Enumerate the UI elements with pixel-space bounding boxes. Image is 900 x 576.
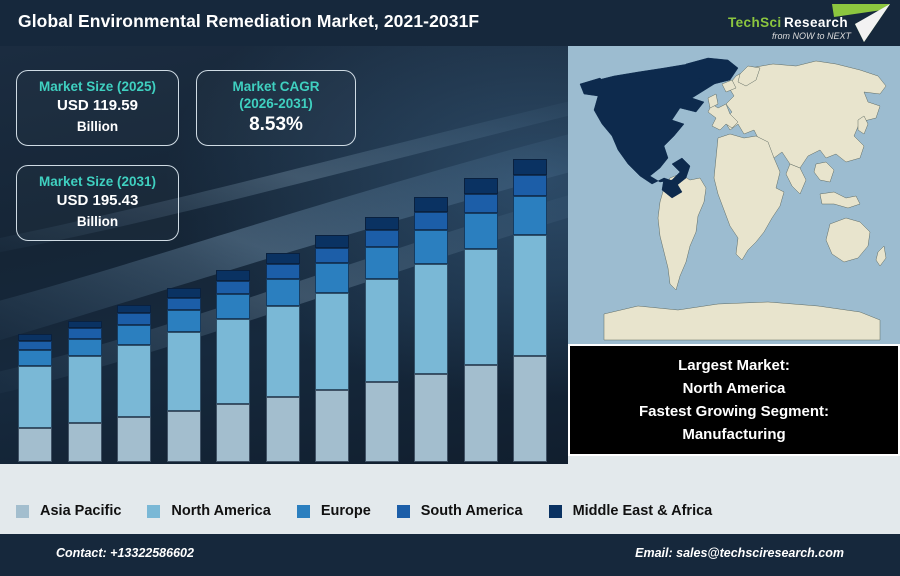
segment-middle-east-africa [216,270,250,281]
segment-europe [216,294,250,319]
segment-north-america [167,332,201,410]
footer-contact: Contact: +13322586602 [56,546,194,560]
largest-market-value: North America [683,377,786,400]
bar-2022 [68,321,102,462]
segment-south-america [18,341,52,350]
legend-item-europe[interactable]: Europe [297,503,371,519]
techsci-research-logo: TechSci Research from NOW to NEXT [714,2,894,44]
segment-middle-east-africa [266,253,300,264]
world-map-svg [568,46,900,346]
bar-2026E [266,253,300,462]
bar-2029F [414,197,448,462]
segment-south-america [68,328,102,338]
segment-asia-pacific [414,374,448,462]
segment-europe [464,213,498,249]
segment-south-america [117,313,151,324]
segment-asia-pacific [365,382,399,462]
segment-north-america [464,249,498,365]
segment-north-america [18,366,52,428]
header-bar: Global Environmental Remediation Market,… [0,0,900,46]
bar-2021 [18,334,52,462]
bar-2025 [216,270,250,462]
world-map-panel [568,46,900,346]
legend-label: Middle East & Africa [573,503,713,519]
legend-item-north-america[interactable]: North America [147,503,270,519]
logo-svg: TechSci Research from NOW to NEXT [714,2,894,44]
segment-north-america [266,306,300,397]
segment-middle-east-africa [315,235,349,248]
footer-email: Email: sales@techsciresearch.com [635,546,844,560]
chart-legend: Asia PacificNorth AmericaEuropeSouth Ame… [0,488,900,534]
legend-swatch [397,505,410,518]
segment-middle-east-africa [464,178,498,194]
segment-asia-pacific [117,417,151,462]
segment-south-america [414,212,448,230]
bar-2031F [513,159,547,462]
stacked-bar-chart: 202120222023202420252026E2027F2028F2029F… [0,46,568,488]
highlight-info-box: Largest Market: North America Fastest Gr… [568,344,900,456]
legend-swatch [549,505,562,518]
fastest-segment-label: Fastest Growing Segment: [639,400,829,423]
segment-middle-east-africa [68,321,102,329]
segment-asia-pacific [216,404,250,462]
segment-asia-pacific [464,365,498,462]
segment-south-america [513,175,547,195]
segment-europe [18,350,52,366]
segment-middle-east-africa [414,197,448,212]
segment-south-america [315,248,349,264]
segment-europe [414,230,448,264]
legend-swatch [16,505,29,518]
segment-asia-pacific [167,411,201,462]
segment-north-america [216,319,250,404]
fastest-segment-value: Manufacturing [682,423,785,446]
largest-market-label: Largest Market: [678,354,790,377]
bar-2028F [365,217,399,462]
segment-north-america [117,345,151,417]
segment-north-america [513,235,547,357]
segment-north-america [315,293,349,390]
segment-north-america [365,279,399,382]
legend-swatch [297,505,310,518]
segment-europe [513,196,547,235]
legend-swatch [147,505,160,518]
bar-2023 [117,305,151,462]
segment-south-america [216,281,250,294]
infographic-root: Global Environmental Remediation Market,… [0,0,900,576]
segment-middle-east-africa [117,305,151,314]
segment-south-america [167,298,201,310]
segment-middle-east-africa [365,217,399,231]
legend-label: Europe [321,503,371,519]
segment-south-america [464,194,498,213]
segment-europe [315,263,349,292]
segment-europe [167,310,201,333]
legend-label: Asia Pacific [40,503,121,519]
segment-asia-pacific [266,397,300,462]
logo-name-part2: Research [784,15,848,30]
segment-south-america [365,230,399,247]
footer-bar: Contact: +13322586602 Email: sales@techs… [0,534,900,576]
bar-2030F [464,178,498,462]
logo-tagline: from NOW to NEXT [772,31,853,41]
chart-panel: Market Size (2025) USD 119.59 Billion Ma… [0,46,568,488]
segment-europe [117,325,151,345]
page-title: Global Environmental Remediation Market,… [18,11,479,32]
segment-middle-east-africa [513,159,547,176]
segment-middle-east-africa [167,288,201,298]
segment-north-america [68,356,102,423]
segment-asia-pacific [513,356,547,462]
legend-label: North America [171,503,270,519]
legend-item-asia-pacific[interactable]: Asia Pacific [16,503,121,519]
segment-europe [68,339,102,357]
bar-2024 [167,288,201,462]
segment-south-america [266,264,300,278]
segment-middle-east-africa [18,334,52,341]
logo-name-part1: TechSci [728,15,782,30]
legend-item-south-america[interactable]: South America [397,503,523,519]
legend-label: South America [421,503,523,519]
segment-north-america [414,264,448,373]
segment-asia-pacific [68,423,102,462]
segment-europe [266,279,300,306]
segment-asia-pacific [315,390,349,462]
legend-item-middle-east-africa[interactable]: Middle East & Africa [549,503,713,519]
segment-asia-pacific [18,428,52,462]
bar-2027F [315,235,349,462]
segment-europe [365,247,399,279]
x-axis-strip [0,464,568,488]
